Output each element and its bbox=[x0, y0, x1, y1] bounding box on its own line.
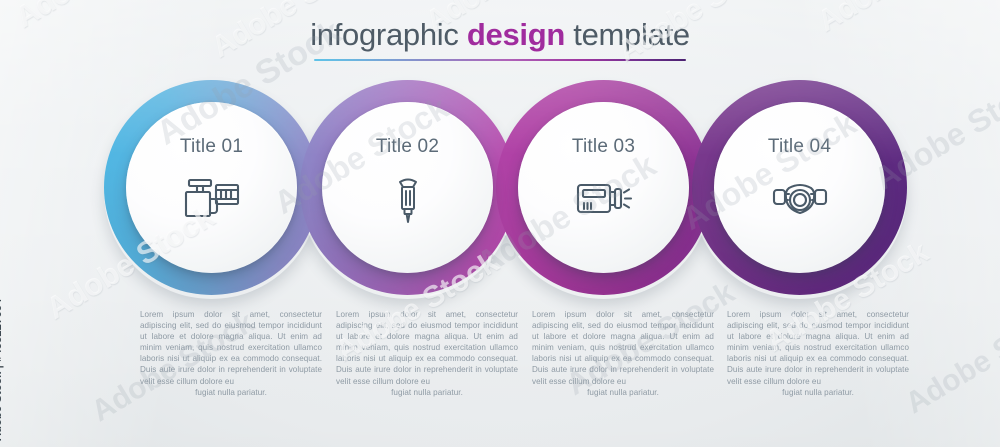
step-body-3: Lorem ipsum dolor sit amet, consectetur … bbox=[532, 309, 714, 398]
infographic-steps-band: Title 01 Title 02 bbox=[0, 80, 1000, 295]
step-title-4: Title 04 bbox=[768, 136, 831, 158]
title-underline-gradient bbox=[314, 59, 686, 61]
step-body-main-1: Lorem ipsum dolor sit amet, consectetur … bbox=[140, 310, 322, 386]
step-body-tail-4: fugiat nulla pariatur. bbox=[727, 387, 909, 398]
page-title-part1: infographic bbox=[310, 17, 467, 52]
step-card-3[interactable]: Title 03 bbox=[518, 102, 689, 273]
step-title-3: Title 03 bbox=[572, 136, 635, 158]
page-title-accent: design bbox=[467, 17, 565, 52]
step-body-2: Lorem ipsum dolor sit amet, consectetur … bbox=[336, 309, 518, 398]
step-body-main-4: Lorem ipsum dolor sit amet, consectetur … bbox=[727, 310, 909, 386]
step-card-4[interactable]: Title 04 bbox=[714, 102, 885, 273]
chisel-screwdriver-icon bbox=[377, 174, 439, 224]
step-body-tail-2: fugiat nulla pariatur. bbox=[336, 387, 518, 398]
page-title: infographic design template bbox=[310, 18, 690, 52]
flashlight-lantern-icon bbox=[573, 174, 635, 224]
step-body-main-2: Lorem ipsum dolor sit amet, consectetur … bbox=[336, 310, 518, 386]
gas-mask-respirator-icon bbox=[769, 174, 831, 224]
step-body-tail-1: fugiat nulla pariatur. bbox=[140, 387, 322, 398]
step-body-tail-3: fugiat nulla pariatur. bbox=[532, 387, 714, 398]
page-title-part2: template bbox=[565, 17, 690, 52]
header: infographic design template bbox=[0, 18, 1000, 61]
step-title-2: Title 02 bbox=[376, 136, 439, 158]
step-body-1: Lorem ipsum dolor sit amet, consectetur … bbox=[140, 309, 322, 398]
step-body-main-3: Lorem ipsum dolor sit amet, consectetur … bbox=[532, 310, 714, 386]
step-title-1: Title 01 bbox=[180, 136, 243, 158]
stock-id-watermark: Adobe Stock | #453227664 bbox=[0, 299, 4, 441]
step-body-4: Lorem ipsum dolor sit amet, consectetur … bbox=[727, 309, 909, 398]
step-card-1[interactable]: Title 01 bbox=[126, 102, 297, 273]
step-card-2[interactable]: Title 02 bbox=[322, 102, 493, 273]
movie-camera-film-icon bbox=[181, 174, 243, 224]
step-descriptions: Lorem ipsum dolor sit amet, consectetur … bbox=[0, 309, 1000, 414]
